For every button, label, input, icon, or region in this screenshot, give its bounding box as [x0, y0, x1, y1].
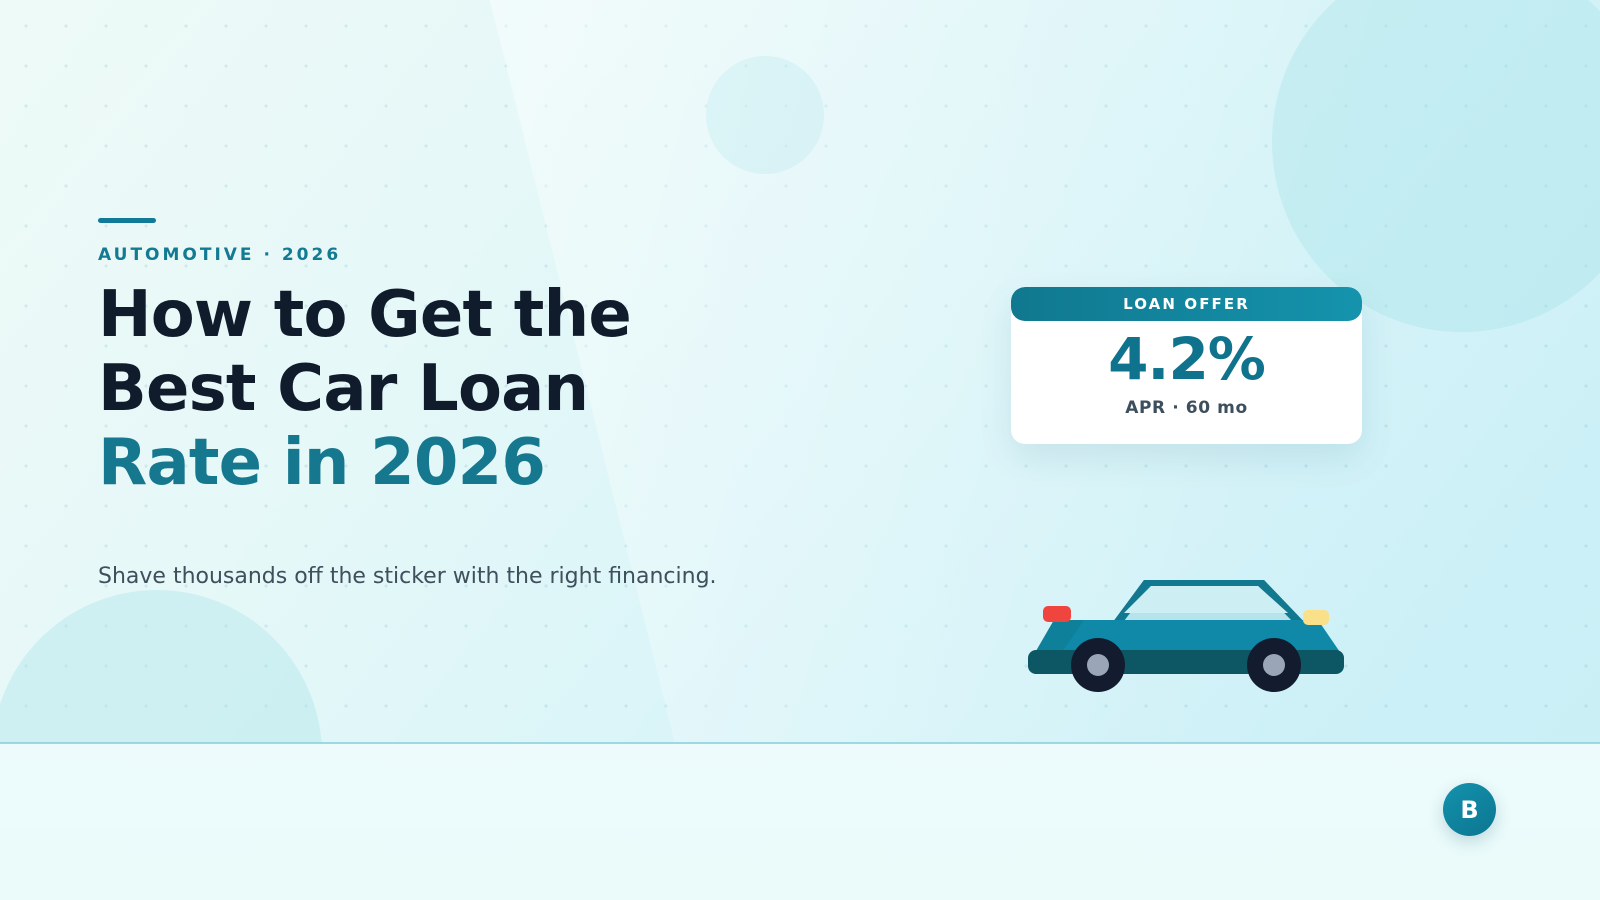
loan-offer-card: LOAN OFFER 4.2% APR · 60 mo — [1011, 287, 1362, 444]
headline-line-1: How to Get the — [98, 278, 631, 352]
headline-line-3-accent: Rate in 2026 — [98, 427, 798, 501]
footer-divider — [0, 742, 1600, 744]
hero-copy-block: AUTOMOTIVE · 2026 How to Get the Best Ca… — [98, 218, 798, 593]
accent-rule — [98, 218, 156, 223]
front-wheel-hub — [1263, 654, 1285, 676]
headlight — [1303, 610, 1329, 625]
footer-band — [0, 743, 1600, 900]
loan-offer-body: 4.2% APR · 60 mo — [1011, 321, 1362, 444]
hero-banner: AUTOMOTIVE · 2026 How to Get the Best Ca… — [0, 0, 1600, 900]
eyebrow-label: AUTOMOTIVE · 2026 — [98, 245, 798, 265]
sedan-side-view-icon — [1018, 558, 1358, 693]
loan-offer-band: LOAN OFFER — [1011, 287, 1362, 321]
apr-value: 4.2% — [1011, 327, 1362, 392]
brand-badge-letter: B — [1460, 798, 1478, 822]
decorative-circle-top-center — [706, 56, 824, 174]
brand-badge[interactable]: B — [1443, 783, 1496, 836]
page-title: How to Get the Best Car Loan Rate in 202… — [98, 279, 798, 501]
decorative-circle-top-right — [1272, 0, 1600, 332]
taillight — [1043, 606, 1071, 622]
headline-line-2: Best Car Loan — [98, 352, 588, 426]
subheadline: Shave thousands off the sticker with the… — [98, 561, 798, 593]
car-illustration — [1018, 558, 1358, 693]
loan-offer-band-label: LOAN OFFER — [1123, 295, 1250, 313]
rear-wheel-hub — [1087, 654, 1109, 676]
apr-term-label: APR · 60 mo — [1011, 398, 1362, 418]
